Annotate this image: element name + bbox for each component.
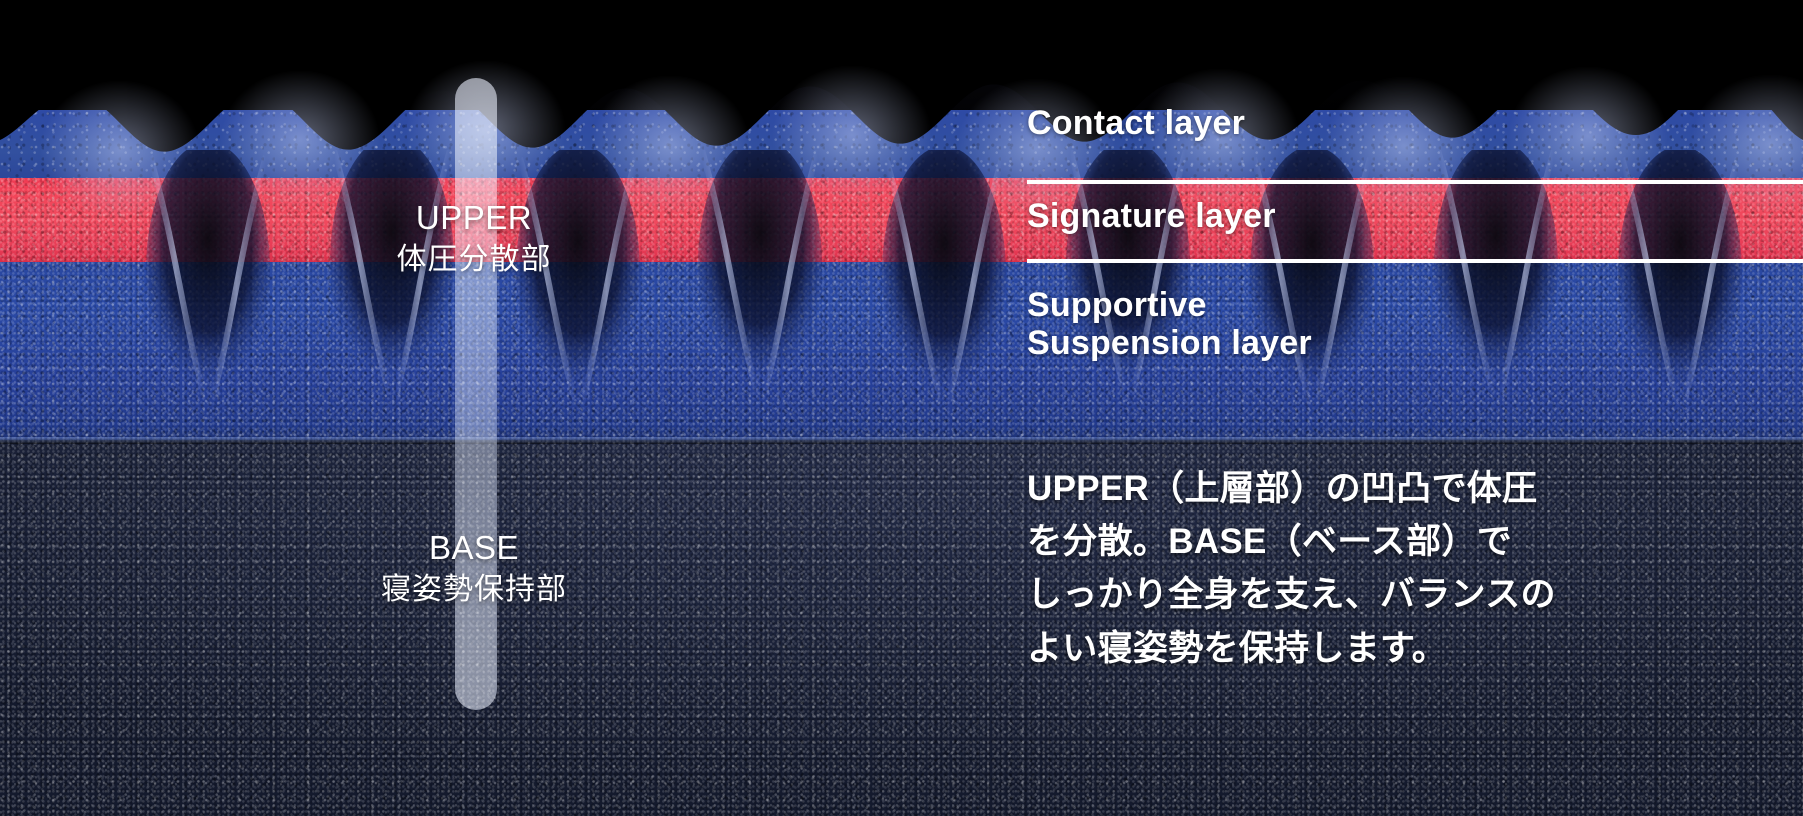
callout-base-title: BASE <box>264 528 684 568</box>
signature-layer-rule-bottom <box>1027 259 1803 263</box>
description-line-4: よい寝姿勢を保持します。 <box>1027 622 1787 675</box>
callout-upper: UPPER 体圧分散部 <box>264 198 684 280</box>
vertical-divider-bar <box>455 78 497 710</box>
diagram-canvas: Contact layer Signature layer Supportive… <box>0 0 1803 816</box>
description-line-1: UPPER（上層部）の凹凸で体圧 <box>1027 462 1787 515</box>
foam-valley-shadows <box>0 150 1803 450</box>
description-line-2: を分散。BASE（ベース部）で <box>1027 515 1787 568</box>
callout-base-subtitle: 寝姿勢保持部 <box>264 570 684 611</box>
label-supportive-line2: Suspension layer <box>1027 324 1312 362</box>
callout-base: BASE 寝姿勢保持部 <box>264 528 684 610</box>
label-supportive-line1: Supportive <box>1027 286 1312 324</box>
callout-upper-title: UPPER <box>264 198 684 238</box>
signature-layer-rule-top <box>1027 180 1803 184</box>
description-line-3: しっかり全身を支え、バランスの <box>1027 568 1787 621</box>
callout-upper-subtitle: 体圧分散部 <box>264 240 684 281</box>
description-paragraph: UPPER（上層部）の凹凸で体圧 を分散。BASE（ベース部）で しっかり全身を… <box>1027 462 1787 675</box>
upper-base-seam <box>0 437 1803 444</box>
label-signature-layer: Signature layer <box>1027 197 1276 235</box>
label-supportive-suspension-layer: Supportive Suspension layer <box>1027 286 1312 362</box>
label-contact-layer: Contact layer <box>1027 104 1245 142</box>
